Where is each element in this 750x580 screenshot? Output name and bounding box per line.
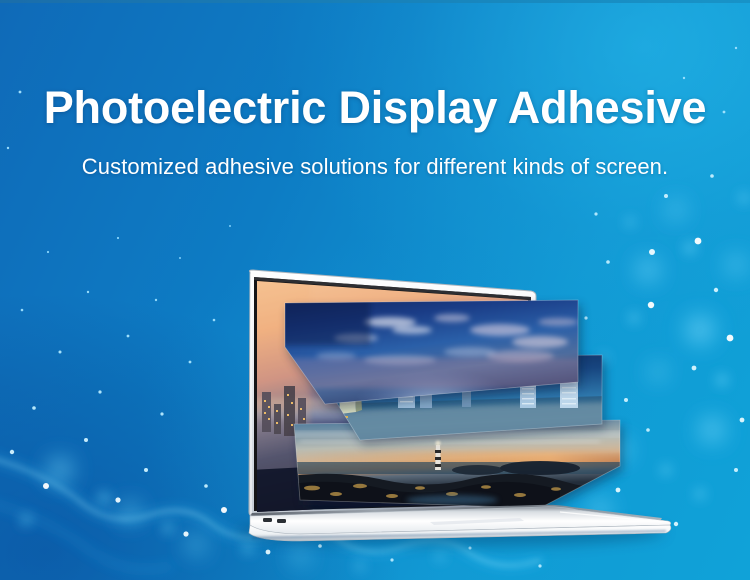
hero-banner: Photoelectric Display Adhesive Customize…	[0, 0, 750, 580]
laptop-product-image	[0, 0, 750, 580]
